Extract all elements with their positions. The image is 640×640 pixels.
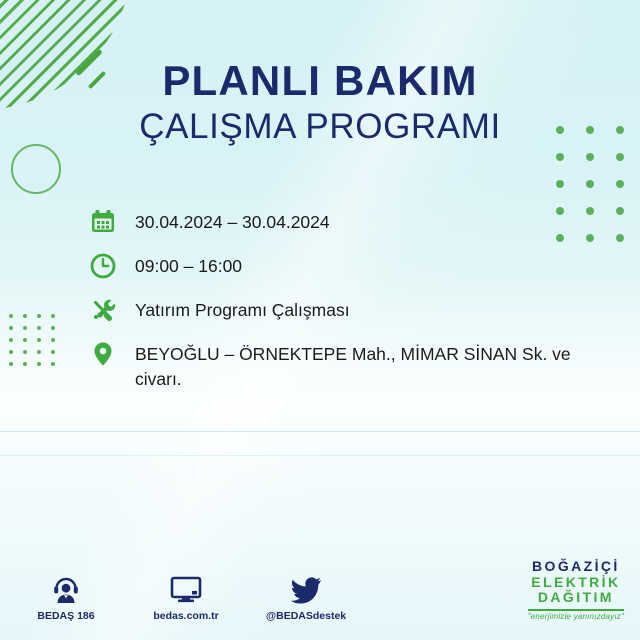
brand-line-3: DAĞITIM bbox=[528, 590, 624, 606]
decor-dot bbox=[23, 350, 27, 354]
page-title: PLANLI BAKIM bbox=[0, 58, 640, 103]
info-list: 30.04.2024 – 30.04.2024 09:00 – 16:00 bbox=[86, 205, 606, 403]
decor-dot bbox=[616, 207, 624, 215]
decor-dot bbox=[37, 326, 41, 330]
footer-contact-bar: BEDAŞ 186 bedas.com.tr @BEDASdestek bbox=[26, 572, 346, 622]
footer-item-call-center[interactable]: BEDAŞ 186 bbox=[26, 572, 106, 622]
decor-dot bbox=[556, 180, 564, 188]
decor-dot bbox=[37, 362, 41, 366]
bedas-logo: BOĞAZİÇİ ELEKTRİK DAĞITIM "enerjimizle y… bbox=[528, 559, 624, 622]
footer-label-call-center: BEDAŞ 186 bbox=[37, 610, 94, 622]
decor-dot bbox=[23, 314, 27, 318]
circle-outline-decoration bbox=[11, 144, 61, 194]
info-row-date: 30.04.2024 – 30.04.2024 bbox=[86, 205, 606, 239]
decor-dot bbox=[37, 314, 41, 318]
decor-dot bbox=[37, 350, 41, 354]
decor-dot bbox=[586, 153, 594, 161]
decor-dot bbox=[51, 362, 55, 366]
date-range-value: 30.04.2024 – 30.04.2024 bbox=[120, 205, 330, 235]
footer-label-twitter: @BEDASdestek bbox=[266, 610, 346, 622]
twitter-bird-icon bbox=[290, 572, 322, 604]
info-row-location: BEYOĞLU – ÖRNEKTEPE Mah., MİMAR SİNAN Sk… bbox=[86, 337, 606, 393]
decor-dot bbox=[9, 314, 13, 318]
decor-dot bbox=[586, 180, 594, 188]
background-hairline-2 bbox=[0, 455, 640, 456]
decor-dot bbox=[9, 362, 13, 366]
decor-dot bbox=[37, 338, 41, 342]
footer-item-twitter[interactable]: @BEDASdestek bbox=[266, 572, 346, 622]
decor-dot bbox=[556, 153, 564, 161]
brand-divider bbox=[528, 609, 624, 611]
footer-item-website[interactable]: bedas.com.tr bbox=[146, 572, 226, 622]
calendar-icon bbox=[86, 205, 120, 239]
decor-dot bbox=[23, 338, 27, 342]
info-row-time: 09:00 – 16:00 bbox=[86, 249, 606, 283]
decor-dot bbox=[51, 338, 55, 342]
dot-grid-left bbox=[9, 314, 65, 374]
decor-dot bbox=[51, 350, 55, 354]
decor-dot bbox=[51, 326, 55, 330]
decor-dot bbox=[616, 180, 624, 188]
decor-dot bbox=[9, 326, 13, 330]
brand-tagline: "enerjimizle yanınızdayız" bbox=[528, 613, 624, 622]
time-range-value: 09:00 – 16:00 bbox=[120, 249, 242, 279]
planned-maintenance-poster: PLANLI BAKIM ÇALIŞMA PROGRAMI 30.04 bbox=[0, 0, 640, 640]
decor-dot bbox=[616, 153, 624, 161]
tools-icon bbox=[86, 293, 120, 327]
decor-dot bbox=[23, 362, 27, 366]
monitor-icon bbox=[170, 572, 202, 604]
footer-label-website: bedas.com.tr bbox=[153, 610, 218, 622]
background-hairline-1 bbox=[0, 431, 640, 432]
info-row-work-type: Yatırım Programı Çalışması bbox=[86, 293, 606, 327]
clock-icon bbox=[86, 249, 120, 283]
location-value: BEYOĞLU – ÖRNEKTEPE Mah., MİMAR SİNAN Sk… bbox=[120, 337, 605, 393]
headset-support-icon bbox=[51, 572, 81, 604]
decor-dot bbox=[51, 314, 55, 318]
work-type-value: Yatırım Programı Çalışması bbox=[120, 293, 350, 323]
brand-line-1: BOĞAZİÇİ bbox=[528, 559, 624, 575]
poster-title-block: PLANLI BAKIM ÇALIŞMA PROGRAMI bbox=[0, 58, 640, 148]
location-pin-icon bbox=[86, 337, 120, 371]
page-subtitle: ÇALIŞMA PROGRAMI bbox=[0, 107, 640, 147]
decor-dot bbox=[23, 326, 27, 330]
decor-dot bbox=[9, 350, 13, 354]
decor-dot bbox=[616, 234, 624, 242]
decor-dot bbox=[9, 338, 13, 342]
